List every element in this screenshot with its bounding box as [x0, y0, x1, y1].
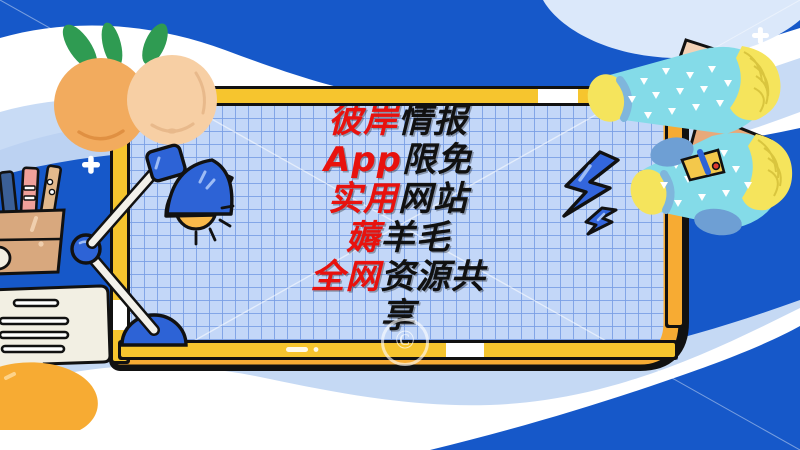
peach-front-dot: [167, 128, 177, 133]
poster-canvas: 彼岸情报 App限免 实用网站 薅羊毛 全网资源共 享: [0, 0, 800, 450]
pencil-cup-knob: [0, 247, 10, 269]
pencil-cup-body: [0, 210, 64, 274]
pencil-cup-dot: [38, 241, 43, 246]
decorations-layer: [0, 0, 800, 450]
pencil-holder: [0, 165, 64, 274]
lightning-bolt-small: [586, 208, 616, 234]
sneaker-dot: [713, 163, 720, 170]
frame-bottom-bar: [121, 343, 675, 357]
frame-bottom-white-segment: [446, 343, 484, 357]
lightning-bolt-large: [564, 152, 618, 216]
pencil-cup-band: [0, 239, 60, 240]
frame-bottom-highlight: [286, 347, 308, 352]
peach-fruit-group: [54, 19, 217, 152]
plus-icon: [82, 156, 100, 174]
frame-top-white-segment-right: [538, 89, 578, 103]
frame-bottom-dot: [314, 347, 319, 352]
frame-orange-corner: [120, 110, 678, 360]
